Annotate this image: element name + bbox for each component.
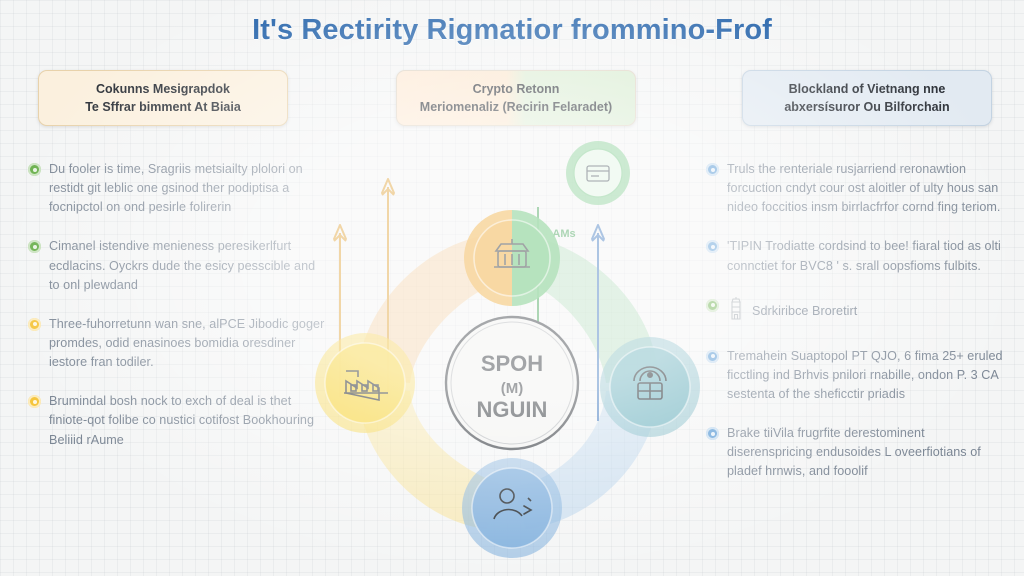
hub-line2: (M) — [501, 380, 524, 397]
header-left-line1: Cokunns Mesigrapdok — [85, 80, 241, 98]
node-right — [600, 337, 700, 437]
bullet-text: Sdrkiribce Broretirt — [752, 302, 857, 321]
node-satellite-top — [566, 141, 630, 205]
left-bullet-column: Du fooler is time, Sragriis metsiailty p… — [28, 160, 328, 470]
list-item: Brake tiiVila frugrfite derestominent di… — [706, 424, 1006, 481]
list-item: Truls the renteriale rusjarriend reronaw… — [706, 160, 1006, 217]
bullet-text: Du fooler is time, Sragriis metsiailty p… — [49, 160, 328, 217]
list-item: Cimanel istendive menieness peresikerlfu… — [28, 237, 328, 294]
bullet-marker-1 — [28, 163, 41, 176]
list-item: Du fooler is time, Sragriis metsiailty p… — [28, 160, 328, 217]
bullet-text: Tremahein Suaptopol PT QJO, 6 fima 25+ e… — [727, 347, 1006, 404]
bullet-text: Brake tiiVila frugrfite derestominent di… — [727, 424, 1006, 481]
bullet-text: Brumindal bosh nock to exch of deal is t… — [49, 392, 328, 449]
list-item: Three-fuhorretunn wan sne, alPCE Jibodic… — [28, 315, 328, 372]
diagram-hub: SPOH (M) NGUIN — [446, 317, 578, 449]
header-middle-line1: Crypto Retonn — [420, 80, 612, 98]
hub-line1: SPOH — [481, 351, 543, 376]
page-title: It's Rectirity Rigmatior frommino-Frof — [0, 14, 1024, 47]
bullet-marker-2 — [28, 240, 41, 253]
bullet-text: Cimanel istendive menieness peresikerlfu… — [49, 237, 328, 294]
node-bottom — [462, 458, 562, 558]
header-right-line1: Blockland of Vietnang nne — [784, 80, 949, 98]
list-item: Brumindal bosh nock to exch of deal is t… — [28, 392, 328, 449]
tower-icon — [727, 296, 745, 327]
node-top — [464, 210, 560, 306]
right-bullet-column: Truls the renteriale rusjarriend reronaw… — [706, 160, 1006, 502]
bullet-text: Truls the renteriale rusjarriend reronaw… — [727, 160, 1006, 217]
broadcast-tower-icon — [634, 367, 666, 399]
header-middle-line2: Meriomenaliz (Recirin Felaradet) — [420, 98, 612, 116]
cycle-diagram: AMs — [310, 125, 714, 565]
hub-line3: NGUIN — [477, 397, 548, 422]
arrow-label-ams: AMs — [552, 228, 575, 240]
header-chip-right: Blockland of Vietnang nne abxersísuror O… — [742, 70, 992, 126]
bullet-marker-3 — [28, 318, 41, 331]
list-item: Tremahein Suaptopol PT QJO, 6 fima 25+ e… — [706, 347, 1006, 404]
bullet-marker-4 — [28, 395, 41, 408]
node-left — [315, 333, 415, 433]
list-item: Sdrkiribce Broretirt — [706, 296, 1006, 327]
header-chip-middle: Crypto Retonn Meriomenaliz (Recirin Fela… — [396, 70, 636, 126]
header-left-line2: Te Sffrar bimment At Biaia — [85, 98, 241, 116]
header-chip-left: Cokunns Mesigrapdok Te Sffrar bimment At… — [38, 70, 288, 126]
list-item: 'TIPIN Trodiatte cordsind to bee! fiaral… — [706, 237, 1006, 275]
bullet-text: Three-fuhorretunn wan sne, alPCE Jibodic… — [49, 315, 328, 372]
header-right-line2: abxersísuror Ou Bilforchain — [784, 98, 949, 116]
bullet-text: 'TIPIN Trodiatte cordsind to bee! fiaral… — [727, 237, 1006, 275]
